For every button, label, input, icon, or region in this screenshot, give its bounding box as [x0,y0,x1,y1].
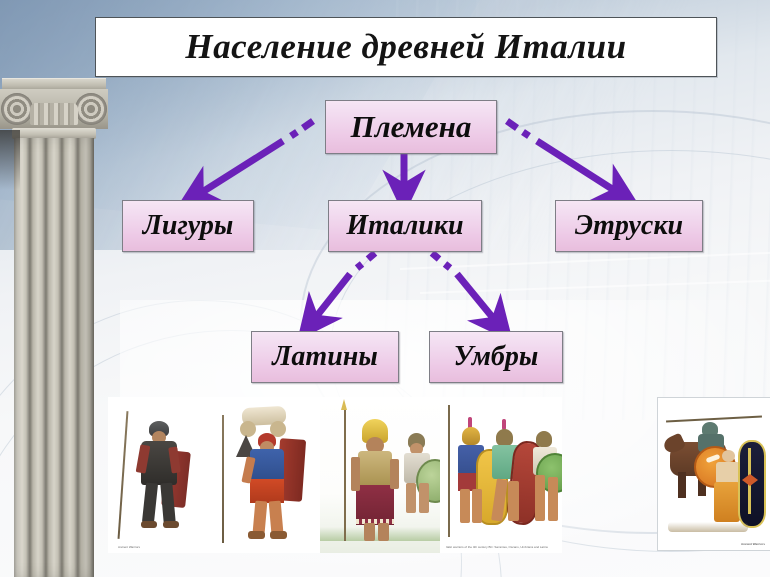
panel4-leg-b2 [508,481,519,521]
node-etruski[interactable]: Этруски [555,200,703,252]
node-umbry-label: Умбры [454,341,539,373]
panel4-leg-c1 [535,475,545,521]
panel3-arm-right [390,459,399,489]
column-shaft [14,138,94,577]
node-ligury-label: Лигуры [143,210,234,242]
warrior-image-strip: Ancient Warriors [108,397,658,553]
panel1-foot-left [141,521,157,528]
panel3-companion-leg-left [406,483,416,513]
panel5-ground [668,522,748,532]
gallery-panel-5-caption: Ancient Warriors [741,543,765,547]
panel4-helmet-a [462,427,480,445]
node-plemena-label: Племена [351,109,472,145]
panel1-leg-left [142,482,158,523]
panel3-companion-leg-right [419,483,429,513]
gallery-panel-4[interactable]: Italic warriors of the 4th century BC: S… [440,397,562,553]
panel4-helmet-b [496,429,513,446]
column-volute-left-icon [1,93,33,125]
panel4-helmet-c [536,431,552,447]
panel2-mail [250,449,284,481]
panel5-foot-head [722,450,735,462]
page-title: Население древней Италии [185,27,626,67]
panel2-leg-left [253,501,268,534]
node-plemena[interactable]: Племена [325,100,497,154]
panel5-horse-leg-1 [678,472,686,498]
node-ligury[interactable]: Лигуры [122,200,254,252]
ionic-column-decoration [0,78,108,577]
panel3-arm-left [351,457,360,491]
column-shadow [0,130,20,190]
panel3-spearhead [341,399,347,410]
panel3-leg-right [378,523,389,541]
gallery-panel-1[interactable]: Ancient Warriors [108,397,212,553]
node-italiki[interactable]: Италики [328,200,482,252]
panel2-pack-bundle-a [240,421,256,437]
slide-root: Население древней Италии [0,0,770,577]
column-volute-right-icon [75,93,107,125]
node-latiny[interactable]: Латины [251,331,399,383]
panel3-cuirass [358,451,392,487]
panel1-foot-right [163,521,179,528]
panel5-foot-torso [716,462,740,484]
node-umbry[interactable]: Умбры [429,331,563,383]
panel2-spear [222,415,224,543]
gallery-panel-3[interactable] [320,397,440,553]
title-box: Население древней Италии [95,17,717,77]
panel2-skirt [250,479,284,503]
panel2-leg-right [269,501,284,534]
panel3-spear [344,409,346,541]
panel2-foot-right [270,531,287,539]
gallery-panel-2[interactable] [212,397,320,553]
node-etruski-label: Этруски [575,210,683,242]
panel5-lance [666,415,762,422]
node-latiny-label: Латины [272,341,378,373]
panel4-leg-a1 [460,489,470,523]
panel4-leg-a2 [472,489,482,523]
gallery-panel-5[interactable]: Ancient Warriors [657,397,770,551]
panel4-spear [448,405,450,537]
node-italiki-label: Италики [346,210,463,242]
panel2-foot-left [248,531,265,539]
gallery-panel-1-caption: Ancient Warriors [118,546,140,550]
column-echinus [30,103,78,125]
panel1-spear [118,411,129,539]
panel5-foot-trousers [714,482,740,522]
column-volutes [0,89,108,129]
panel4-leg-c2 [548,477,558,521]
panel3-leg-left [364,523,375,541]
gallery-panel-4-caption: Italic warriors of the 4th century BC: S… [446,546,548,550]
